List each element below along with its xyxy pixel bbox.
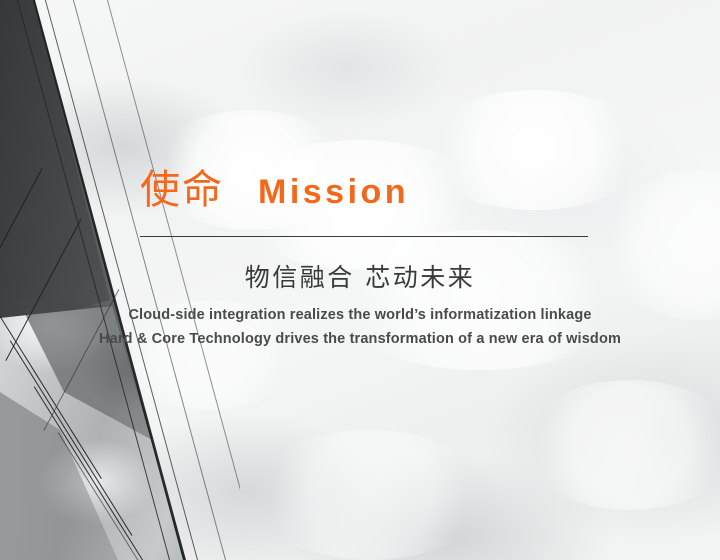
body-line: Hard & Core Technology drives the transf… xyxy=(0,327,720,351)
title-chinese: 使命 xyxy=(140,170,224,210)
banner-body: Cloud-side integration realizes the worl… xyxy=(0,303,720,351)
banner-subtitle: 物信融合 芯动未来 xyxy=(0,258,720,294)
mission-banner: 使命 Mission 物信融合 芯动未来 Cloud-side integrat… xyxy=(0,0,720,560)
banner-content: 使命 Mission 物信融合 芯动未来 Cloud-side integrat… xyxy=(0,0,720,560)
title-divider xyxy=(140,236,588,237)
body-line: Cloud-side integration realizes the worl… xyxy=(0,303,720,327)
banner-title: 使命 Mission xyxy=(140,170,409,210)
title-english: Mission xyxy=(258,175,409,209)
